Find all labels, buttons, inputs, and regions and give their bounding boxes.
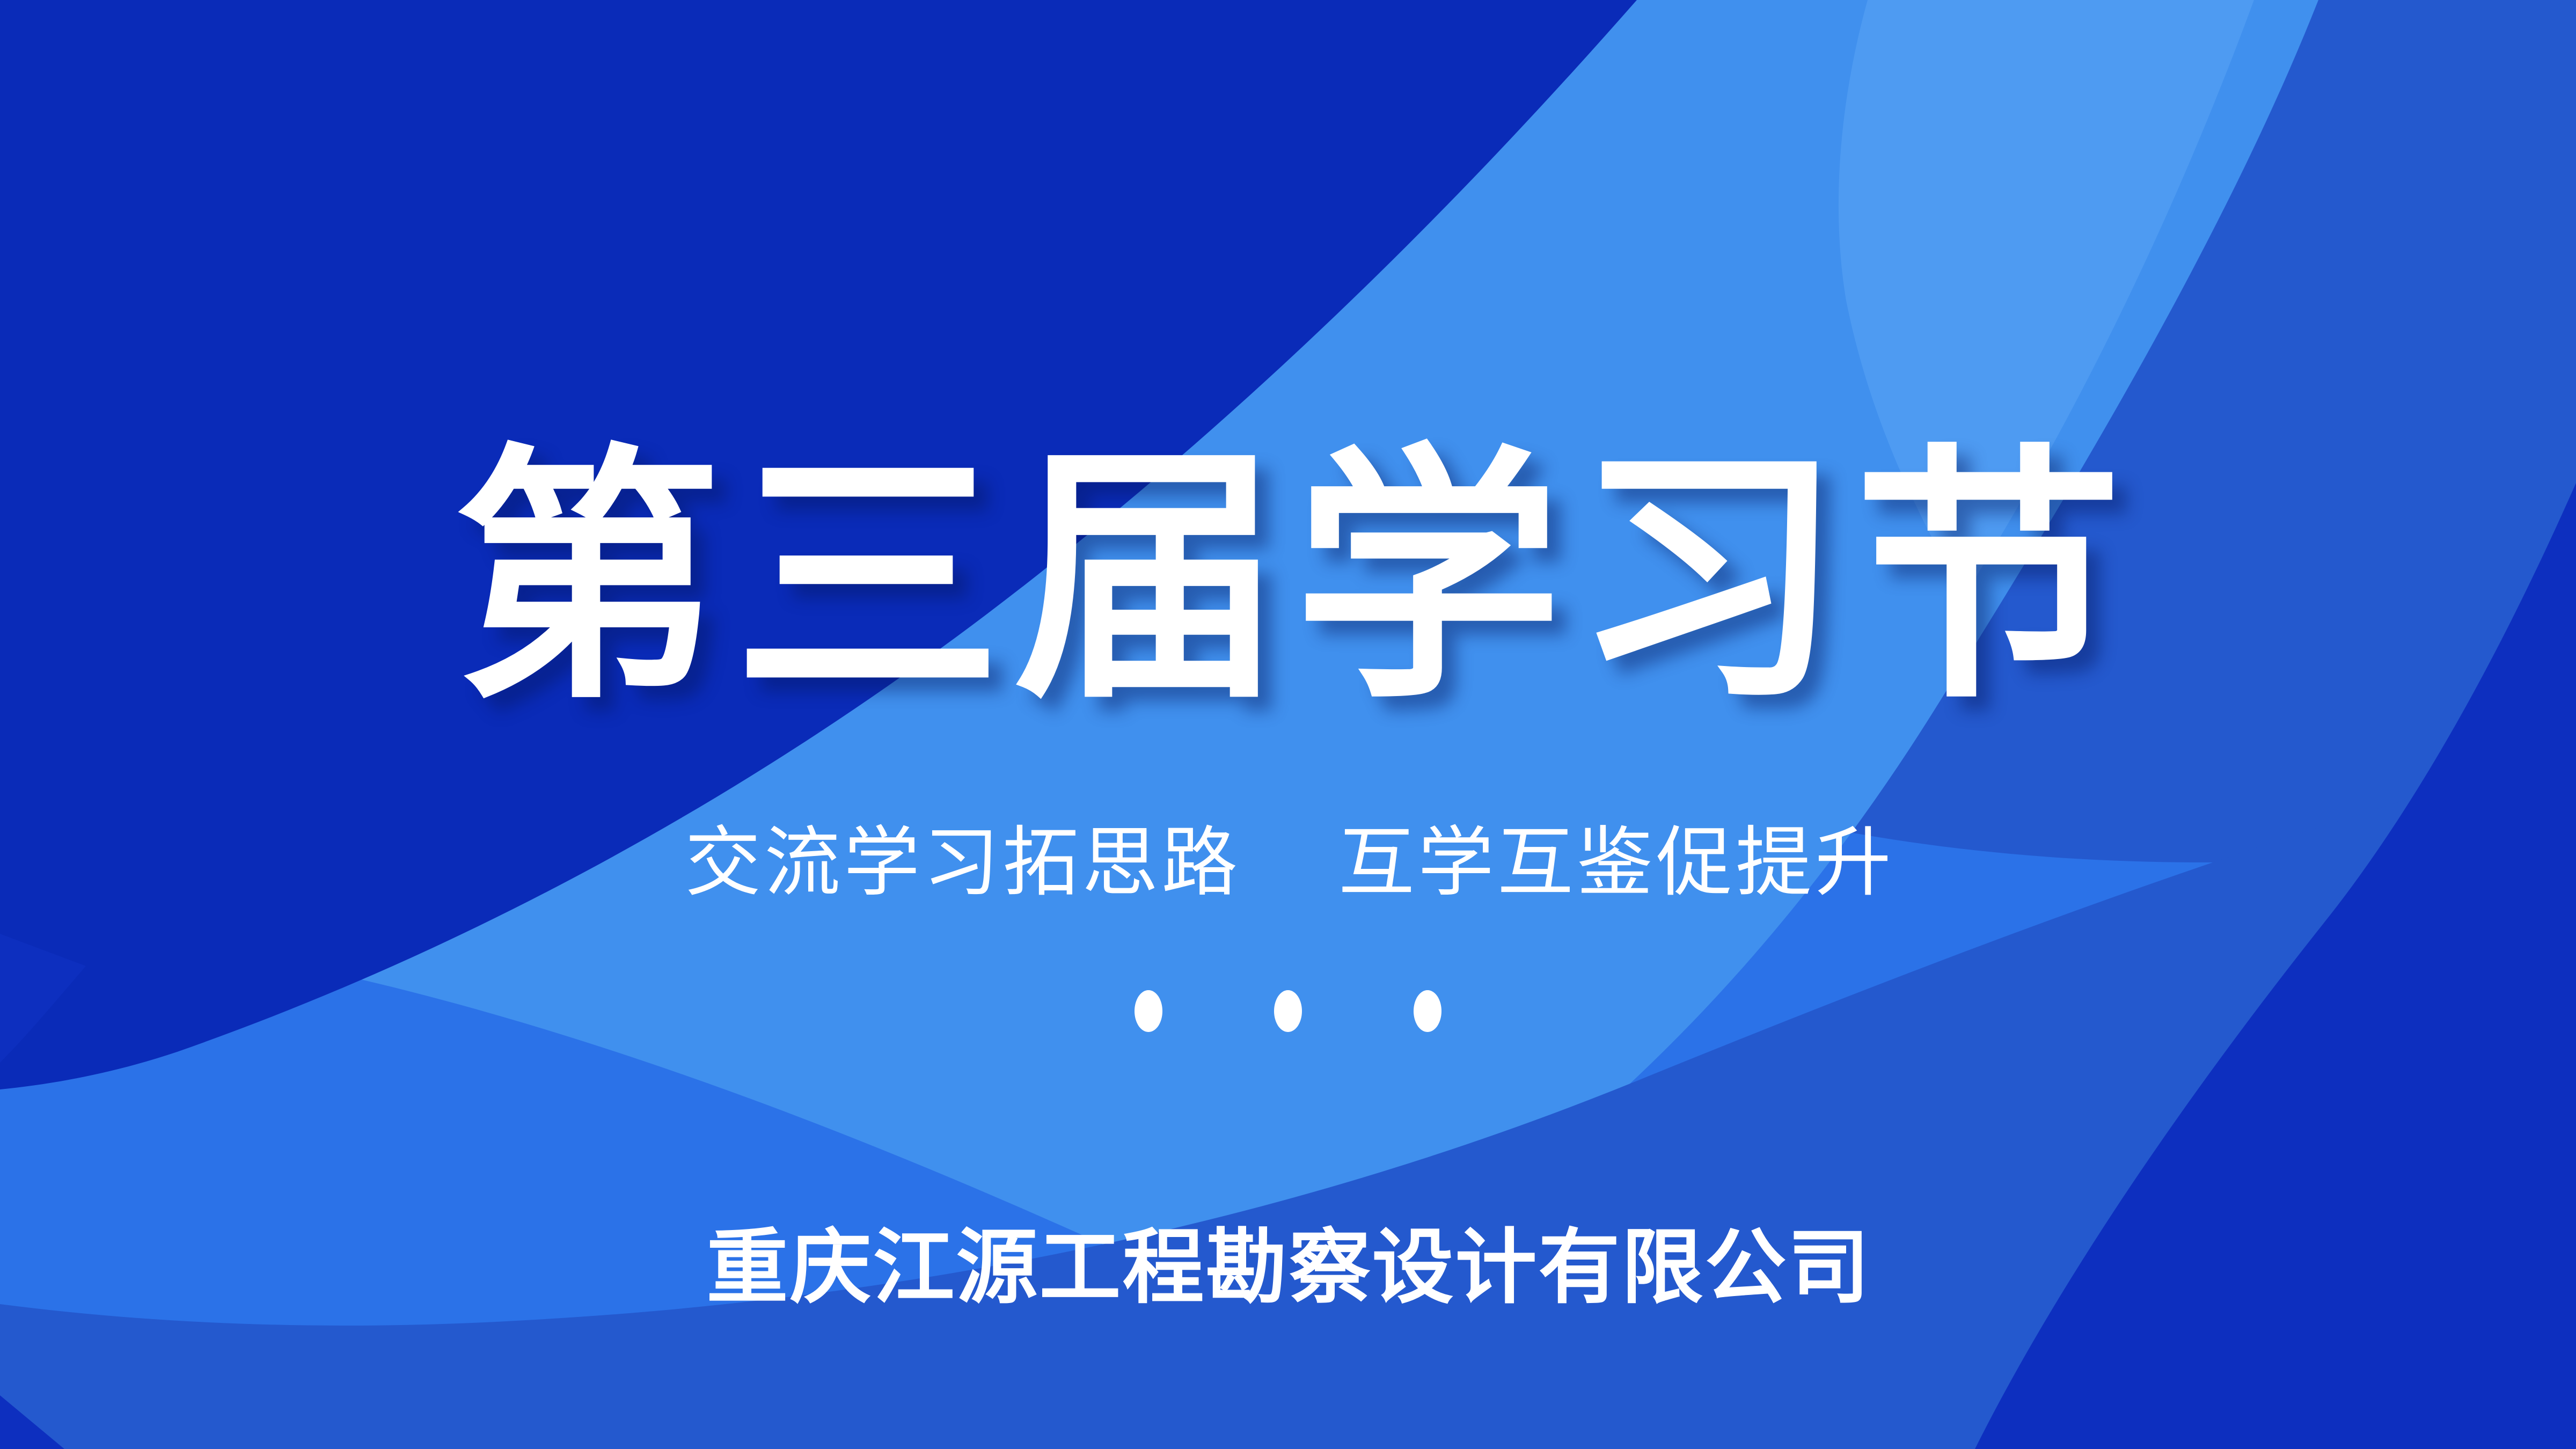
page-title: 第三届学习节 [0, 444, 2576, 713]
dot-separator [0, 990, 2576, 1032]
dot-icon [1135, 990, 1162, 1032]
poster-subtitle: 交流学习拓思路 互学互鉴促提升 [0, 820, 2576, 906]
poster-canvas: 第三届学习节 交流学习拓思路 互学互鉴促提升 重庆江源工程勘察设计有限公司 [0, 0, 2576, 1449]
company-name: 重庆江源工程勘察设计有限公司 [0, 1223, 2576, 1313]
dot-icon [1414, 990, 1441, 1032]
dot-icon [1274, 990, 1302, 1032]
poster-content: 第三届学习节 交流学习拓思路 互学互鉴促提升 重庆江源工程勘察设计有限公司 [0, 0, 2576, 1449]
